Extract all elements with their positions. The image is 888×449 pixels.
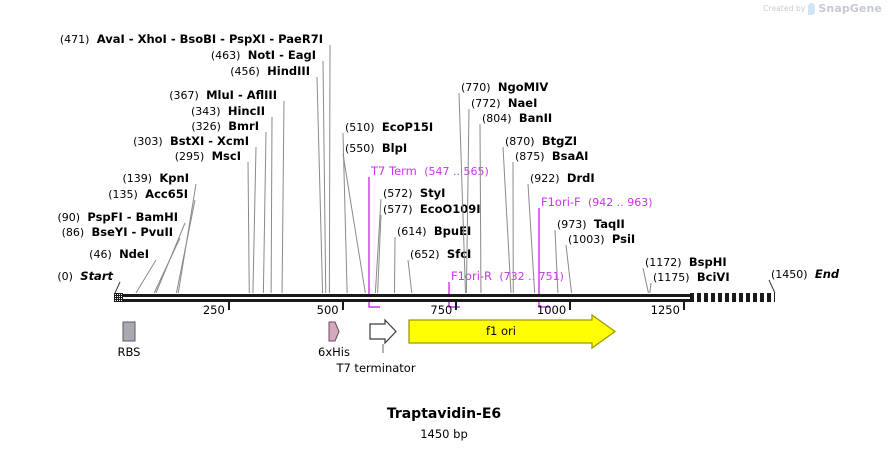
map-title: Traptavidin-E6 [0, 406, 888, 422]
feature-rbs-box[interactable] [123, 322, 135, 341]
feature-layer[interactable] [0, 0, 888, 449]
feature-label-his6: 6xHis [244, 345, 424, 359]
feature-label-t7terminator: T7 terminator [286, 361, 466, 375]
feature-t7-terminator-arrow[interactable] [370, 320, 396, 343]
feature-label-f1ori: f1 ori [411, 324, 591, 338]
feature-6xhis-arrow[interactable] [329, 322, 339, 341]
map-subtitle: 1450 bp [0, 427, 888, 441]
feature-label-rbs: RBS [39, 345, 219, 359]
